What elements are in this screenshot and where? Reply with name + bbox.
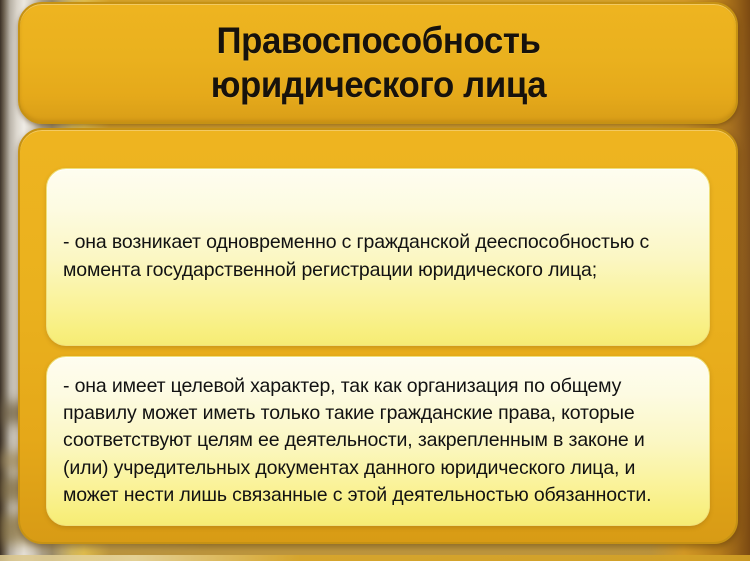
title-panel: Правоспособность юридического лица [18,2,738,124]
content-panel: - она возникает одновременно с гражданск… [18,128,738,544]
slide-title: Правоспособность юридического лица [210,19,546,106]
slide-canvas: Правоспособность юридического лица - она… [0,0,750,561]
bullet-card-1: - она возникает одновременно с гражданск… [46,168,710,346]
bullet-card-2-text: - она имеет целевой характер, так как ор… [63,373,693,509]
bottom-edge-highlight [0,555,750,561]
bullet-card-1-text: - она возникает одновременно с гражданск… [63,229,693,284]
bullet-card-2: - она имеет целевой характер, так как ор… [46,356,710,526]
